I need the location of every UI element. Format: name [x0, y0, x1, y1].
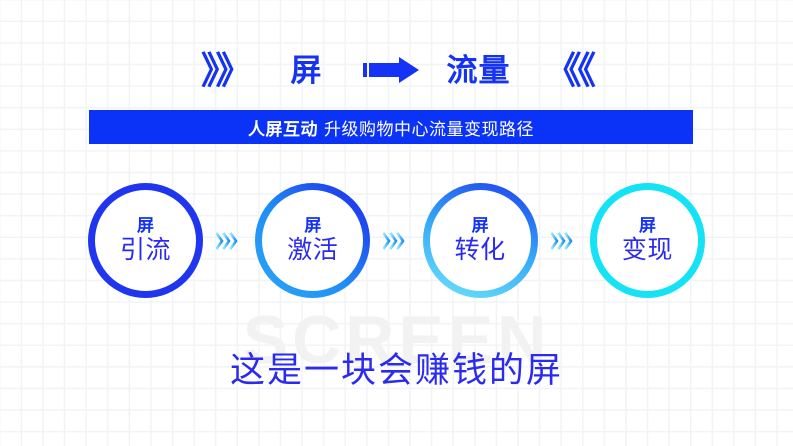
flow-node-monetize[interactable]: 屏 变现	[590, 183, 705, 298]
node-top-label: 屏	[304, 217, 321, 235]
flow-node-convert[interactable]: 屏 转化	[423, 183, 538, 298]
subtitle-banner: 人屏互动 升级购物中心流量变现路径	[89, 110, 693, 144]
banner-rest-text: 升级购物中心流量变现路径	[324, 115, 534, 140]
node-bottom-label: 激活	[287, 236, 338, 265]
flow-node-attract[interactable]: 屏 引流	[88, 183, 203, 298]
footer-headline: 这是一块会赚钱的屏	[0, 350, 793, 392]
node-bottom-label: 变现	[622, 236, 673, 265]
node-bottom-label: 转化	[455, 236, 506, 265]
node-top-label: 屏	[137, 217, 154, 235]
node-top-label: 屏	[639, 217, 656, 235]
header-title-row: 》》 屏 流量 《《	[0, 46, 793, 94]
flow-node-activate[interactable]: 屏 激活	[255, 183, 370, 298]
header-word-screen: 屏	[291, 55, 323, 86]
node-top-label: 屏	[472, 217, 489, 235]
double-chevron-left-icon: 《《	[545, 52, 593, 89]
banner-strong-text: 人屏互动	[248, 115, 318, 140]
double-chevron-right-icon: 》》	[201, 52, 249, 89]
flow-diagram: 屏 引流 屏 激活 屏 转化	[88, 182, 705, 299]
double-chevron-right-icon	[382, 229, 410, 253]
double-chevron-right-icon	[215, 229, 243, 253]
right-arrow-icon	[363, 57, 419, 83]
node-bottom-label: 引流	[120, 236, 171, 265]
double-chevron-right-icon	[550, 229, 578, 253]
header-word-traffic: 流量	[447, 55, 511, 86]
